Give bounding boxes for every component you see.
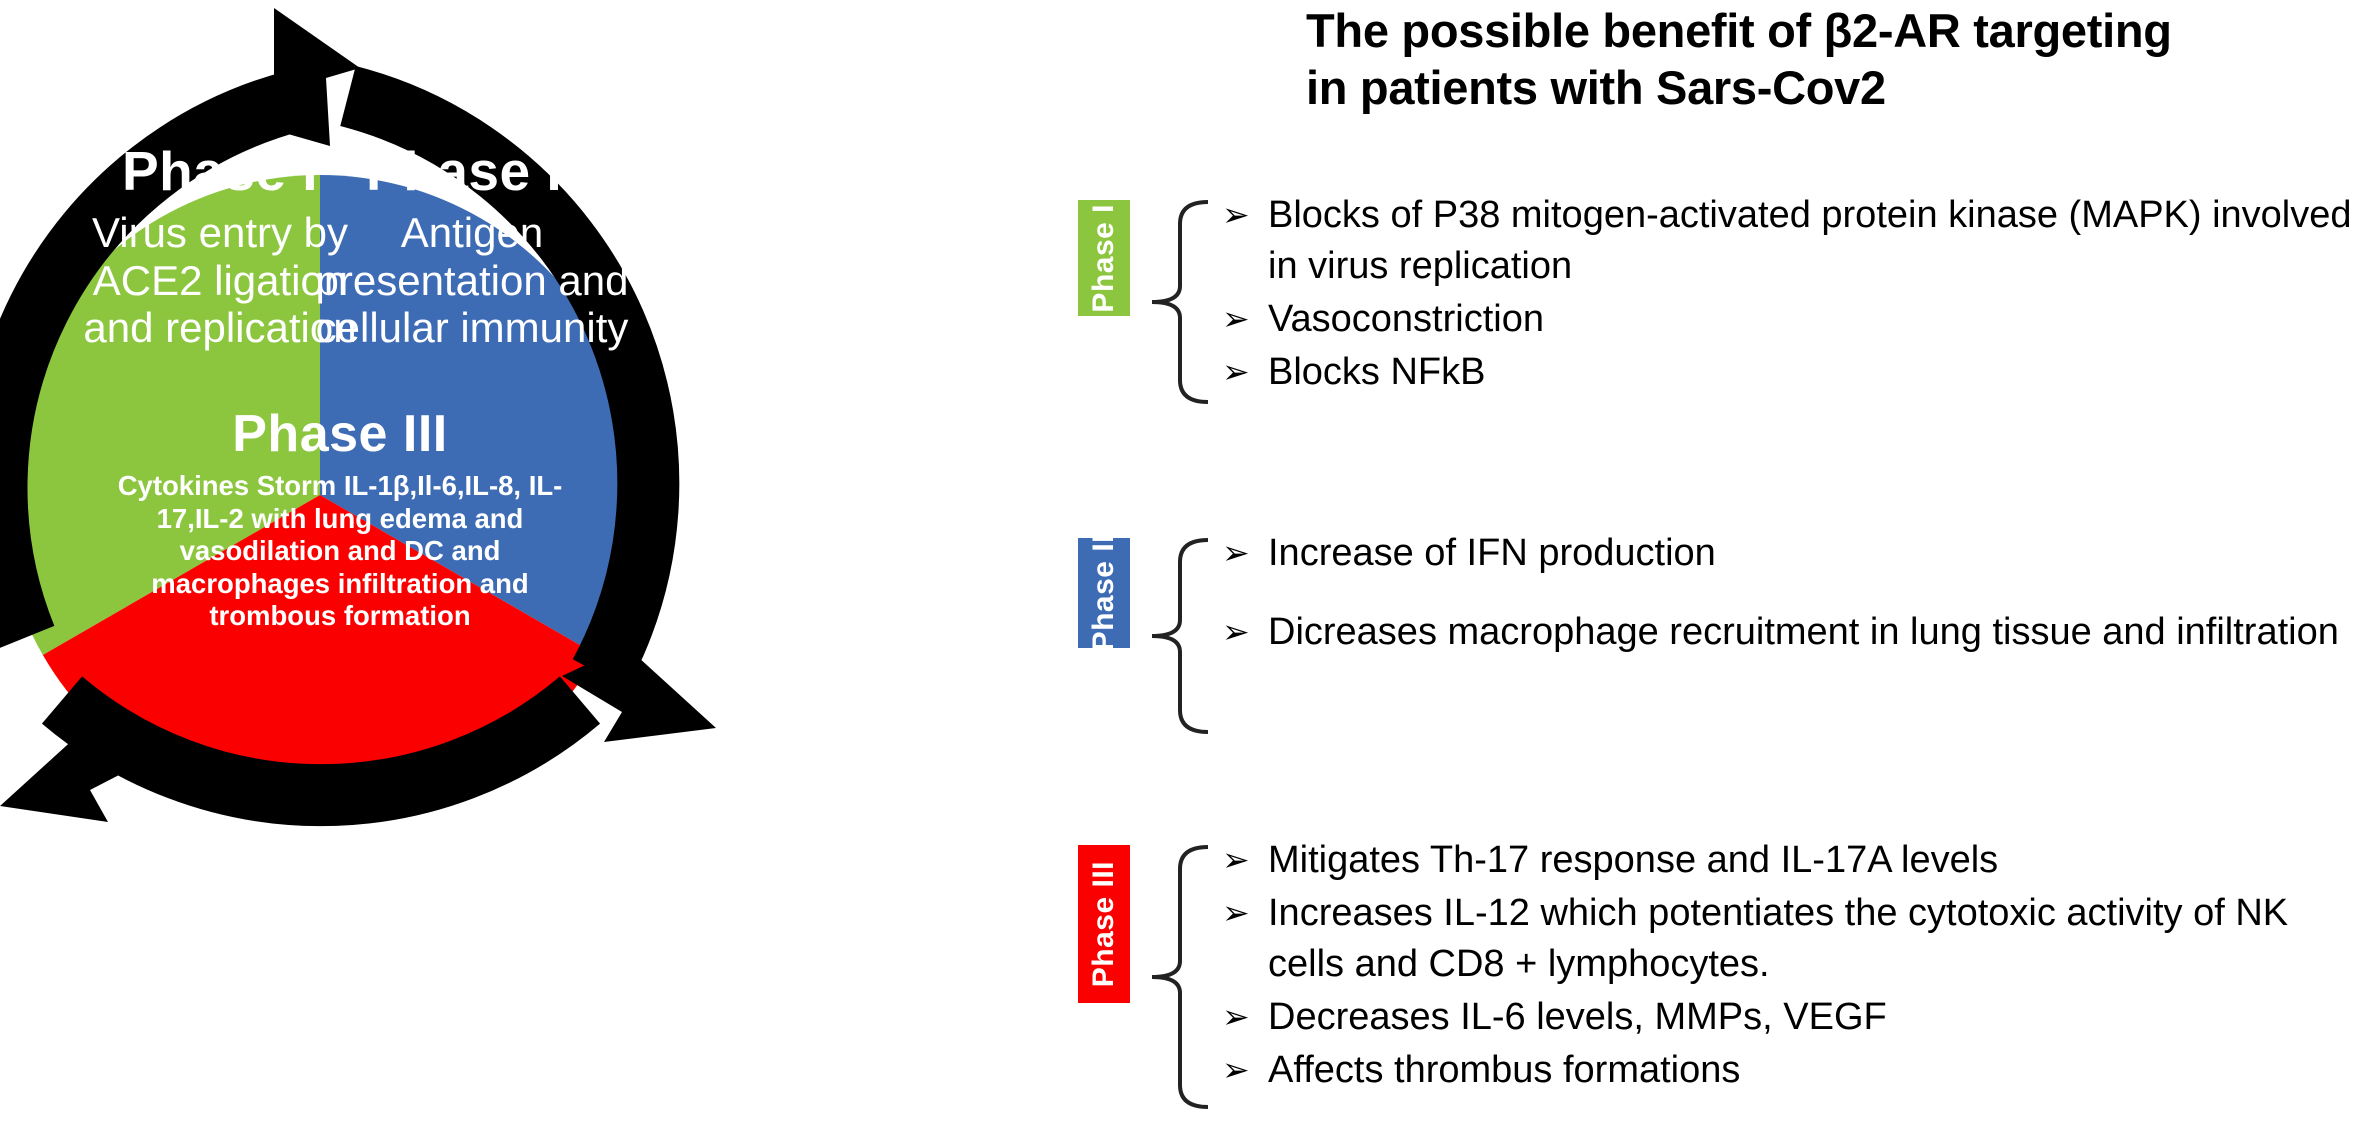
bullet-text: Mitigates Th-17 response and IL-17A leve… bbox=[1268, 835, 2362, 886]
bullet-item: ➢ Decreases IL-6 levels, MMPs, VEGF bbox=[1222, 992, 2362, 1043]
page-title-line-1: The possible benefit of β2-AR targeting bbox=[1306, 2, 2356, 59]
arrow-bullet-icon: ➢ bbox=[1222, 294, 1268, 344]
bullet-text: Decreases IL-6 levels, MMPs, VEGF bbox=[1268, 992, 2362, 1043]
bullet-item: ➢ Increase of IFN production bbox=[1222, 528, 2362, 579]
bullet-text: Vasoconstriction bbox=[1268, 294, 2362, 345]
cycle-diagram: Phase I Virus entry by ACE2 ligation and… bbox=[0, 0, 1060, 1126]
bullet-text: Increase of IFN production bbox=[1268, 528, 2362, 579]
phase-tab-label-phase-3: Phase III bbox=[1087, 861, 1121, 987]
page-title-line-2: in patients with Sars-Cov2 bbox=[1306, 59, 2356, 116]
phase-tab-phase-1: Phase I bbox=[1078, 200, 1130, 316]
brace-phase-3 bbox=[1150, 843, 1214, 1116]
benefit-panel: The possible benefit of β2-AR targeting … bbox=[1060, 0, 2362, 1126]
arrow-bullet-icon: ➢ bbox=[1222, 992, 1268, 1042]
bullet-text: Affects thrombus formations bbox=[1268, 1045, 2362, 1096]
phase-row-phase-1: Phase I ➢ Blocks of P38 mitogen-activate… bbox=[1060, 200, 2362, 411]
bullet-list-phase-1: ➢ Blocks of P38 mitogen-activated protei… bbox=[1222, 190, 2362, 400]
phase-tab-phase-2: Phase II bbox=[1078, 538, 1130, 648]
arrow-bullet-icon: ➢ bbox=[1222, 347, 1268, 397]
arrow-bullet-icon: ➢ bbox=[1222, 607, 1268, 657]
arrow-bullet-icon: ➢ bbox=[1222, 888, 1268, 938]
bullet-item: ➢ Blocks of P38 mitogen-activated protei… bbox=[1222, 190, 2362, 292]
bullet-text: Blocks of P38 mitogen-activated protein … bbox=[1268, 190, 2362, 292]
arrow-bullet-icon: ➢ bbox=[1222, 1045, 1268, 1095]
page-title: The possible benefit of β2-AR targeting … bbox=[1306, 2, 2356, 117]
brace-phase-2 bbox=[1150, 536, 1214, 741]
phase-tab-phase-3: Phase III bbox=[1078, 845, 1130, 1003]
arrow-bullet-icon: ➢ bbox=[1222, 835, 1268, 885]
bullet-text: Increases IL-12 which potentiates the cy… bbox=[1268, 888, 2362, 990]
brace-icon bbox=[1150, 536, 1214, 736]
brace-phase-1 bbox=[1150, 198, 1214, 411]
phase-row-phase-2: Phase II ➢ Increase of IFN production ➢ … bbox=[1060, 538, 2362, 741]
phase-tab-label-phase-1: Phase I bbox=[1087, 204, 1121, 313]
bullet-text: Blocks NFkB bbox=[1268, 347, 2362, 398]
bullet-list-phase-2: ➢ Increase of IFN production ➢ Dicreases… bbox=[1222, 528, 2362, 686]
bullet-list-phase-3: ➢ Mitigates Th-17 response and IL-17A le… bbox=[1222, 835, 2362, 1098]
bullet-item: ➢ Increases IL-12 which potentiates the … bbox=[1222, 888, 2362, 990]
cycle-svg bbox=[0, 0, 1060, 1126]
phase-tab-label-phase-2: Phase II bbox=[1087, 534, 1121, 651]
bullet-item: ➢ Mitigates Th-17 response and IL-17A le… bbox=[1222, 835, 2362, 886]
bullet-item: ➢ Blocks NFkB bbox=[1222, 347, 2362, 398]
arrow-bullet-icon: ➢ bbox=[1222, 190, 1268, 240]
brace-icon bbox=[1150, 198, 1214, 406]
phase-row-phase-3: Phase III ➢ Mitigates Th-17 response and… bbox=[1060, 845, 2362, 1116]
bullet-item: ➢ Vasoconstriction bbox=[1222, 294, 2362, 345]
arrow-bullet-icon: ➢ bbox=[1222, 528, 1268, 578]
brace-icon bbox=[1150, 843, 1214, 1111]
bullet-item: ➢ Dicreases macrophage recruitment in lu… bbox=[1222, 607, 2362, 658]
bullet-text: Dicreases macrophage recruitment in lung… bbox=[1268, 607, 2362, 658]
bullet-item: ➢ Affects thrombus formations bbox=[1222, 1045, 2362, 1096]
